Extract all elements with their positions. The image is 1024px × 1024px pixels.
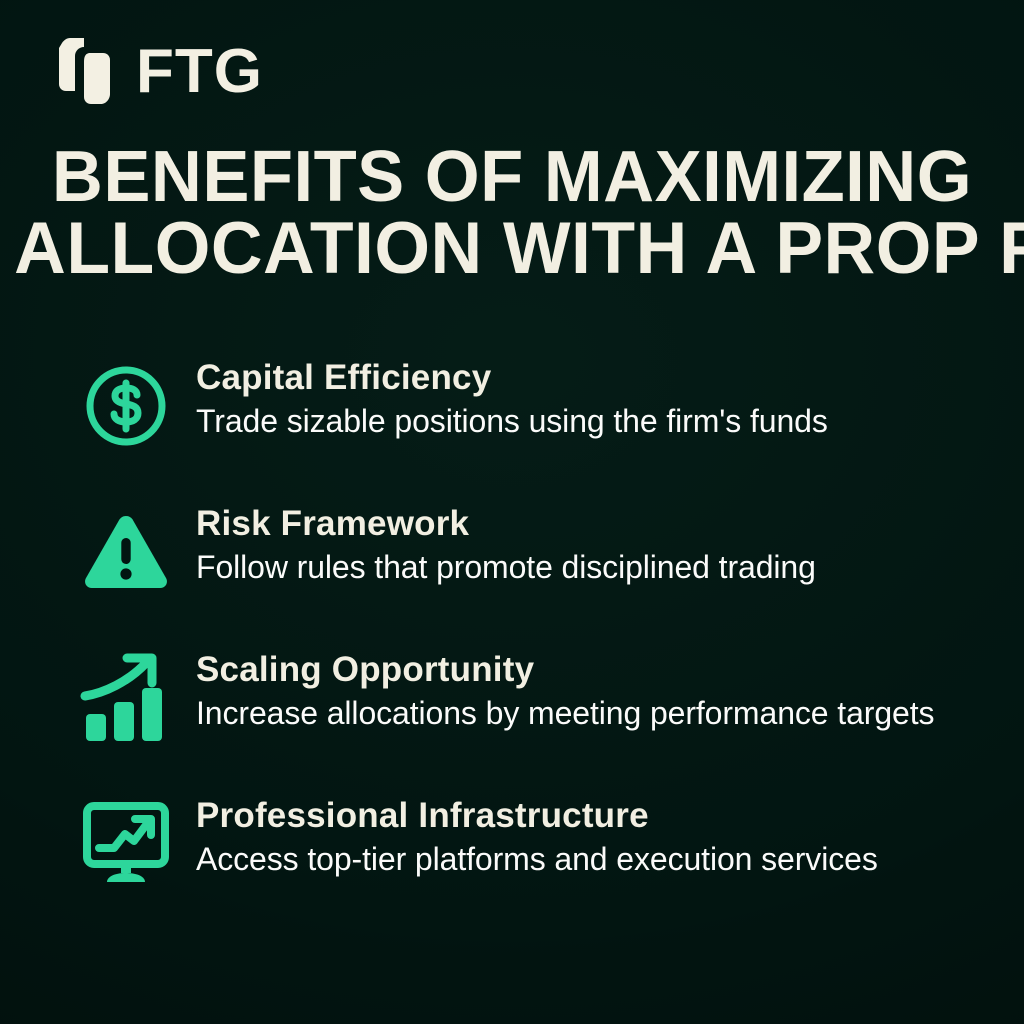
- benefit-text-risk-framework: Risk Framework Follow rules that promote…: [174, 498, 816, 587]
- benefit-title: Capital Efficiency: [196, 358, 828, 397]
- benefit-text-capital-efficiency: Capital Efficiency Trade sizable positio…: [174, 352, 828, 441]
- benefit-item-professional-infrastructure: Professional Infrastructure Access top-t…: [78, 790, 1024, 936]
- benefit-item-scaling-opportunity: Scaling Opportunity Increase allocations…: [78, 644, 1024, 790]
- monitor-trend-icon: [78, 796, 174, 892]
- benefit-description: Follow rules that promote disciplined tr…: [196, 548, 816, 586]
- benefit-description: Increase allocations by meeting performa…: [196, 694, 934, 732]
- warning-triangle-icon: [78, 504, 174, 600]
- page-title-line-1: BENEFITS OF MAXIMIZING: [14, 142, 1010, 213]
- benefit-text-professional-infrastructure: Professional Infrastructure Access top-t…: [174, 790, 878, 879]
- benefit-description: Trade sizable positions using the firm's…: [196, 402, 828, 440]
- page-title-line-2: ALLOCATION WITH A PROP FIRM: [14, 213, 1010, 285]
- brand-logo: FTG: [58, 36, 263, 108]
- benefit-title: Risk Framework: [196, 504, 816, 543]
- benefit-title: Scaling Opportunity: [196, 650, 934, 689]
- dollar-circle-icon: [78, 358, 174, 454]
- benefit-text-scaling-opportunity: Scaling Opportunity Increase allocations…: [174, 644, 934, 733]
- brand-wordmark: FTG: [136, 41, 263, 103]
- page-title: BENEFITS OF MAXIMIZING ALLOCATION WITH A…: [0, 142, 1024, 284]
- benefit-item-capital-efficiency: Capital Efficiency Trade sizable positio…: [78, 352, 1024, 498]
- benefit-description: Access top-tier platforms and execution …: [196, 840, 878, 878]
- benefit-item-risk-framework: Risk Framework Follow rules that promote…: [78, 498, 1024, 644]
- benefits-list: Capital Efficiency Trade sizable positio…: [78, 352, 1024, 936]
- ftg-chevron-logo-icon: [58, 36, 116, 108]
- benefit-title: Professional Infrastructure: [196, 796, 878, 835]
- growth-bar-chart-icon: [78, 650, 174, 746]
